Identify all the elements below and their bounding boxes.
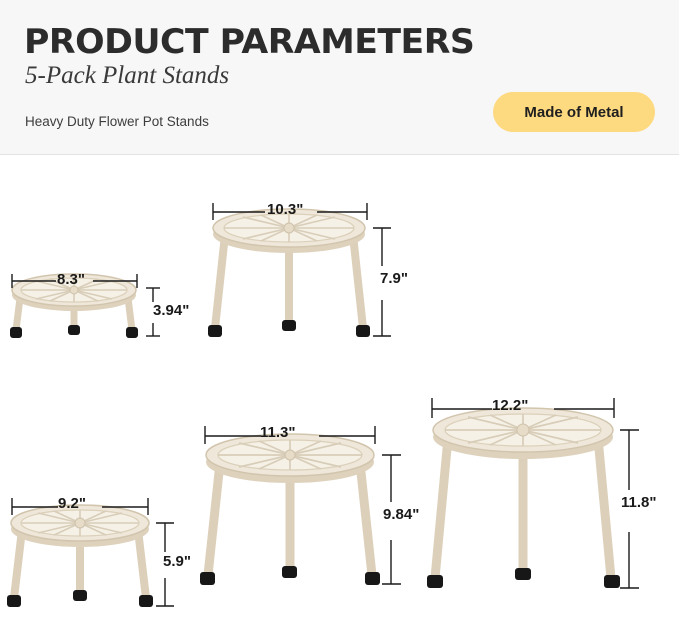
stand-10-3-diameter-label: 10.3" <box>267 201 303 218</box>
stand-11-3-diameter-label: 11.3" <box>260 424 295 441</box>
stand-10-3-svg <box>195 190 455 375</box>
stand-9-2-diameter-label: 9.2" <box>58 495 86 512</box>
page-subtitle: 5-Pack Plant Stands <box>25 62 229 90</box>
page-title: PRODUCT PARAMETERS <box>24 22 474 62</box>
stand-10-3-illustration: 10.3" 7.9" <box>195 190 455 370</box>
stand-12-2-height-label: 11.8" <box>621 494 656 511</box>
product-diagram: 8.3" 3.94" <box>0 155 679 630</box>
stand-12-2-illustration: 12.2" 11.8" <box>410 380 679 630</box>
stand-10-3-height-label: 7.9" <box>380 270 408 287</box>
stand-12-2-diameter-label: 12.2" <box>492 397 528 414</box>
stand-8-3-diameter-label: 8.3" <box>57 271 85 288</box>
header-band: PRODUCT PARAMETERS 5-Pack Plant Stands H… <box>0 0 679 155</box>
status-badge: Made of Metal <box>493 92 655 132</box>
product-parameters-page: PRODUCT PARAMETERS 5-Pack Plant Stands H… <box>0 0 679 630</box>
stand-8-3-height-label: 3.94" <box>153 302 189 319</box>
page-description: Heavy Duty Flower Pot Stands <box>25 114 209 129</box>
